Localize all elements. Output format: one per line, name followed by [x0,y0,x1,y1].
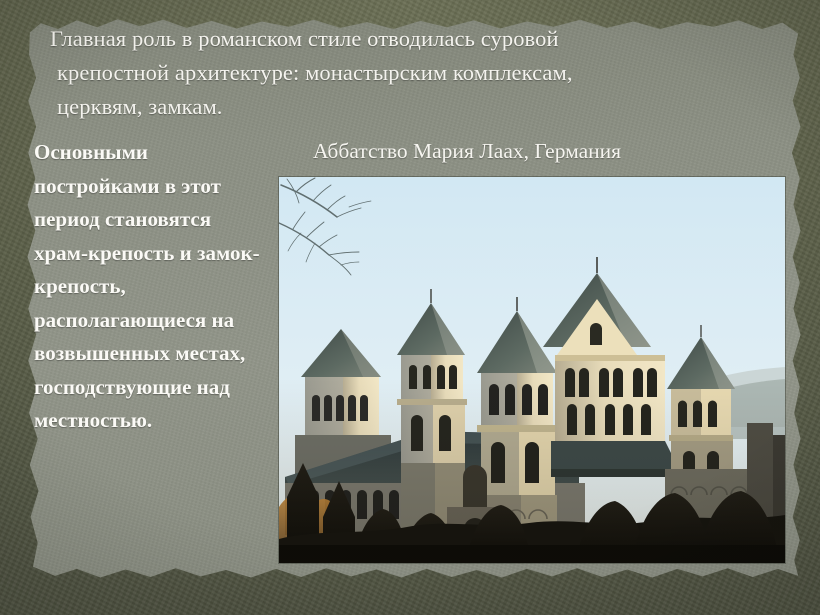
photo-caption: Аббатство Мария Лаах, Германия [313,136,753,166]
body-paragraph: Основными постройками в этот период стан… [34,136,262,438]
slide-title: Главная роль в романском стиле отводилас… [50,22,750,124]
title-line-3: церквям, замкам. [50,90,750,124]
abbey-photograph-image [279,177,785,563]
title-line-2: крепостной архитектуре: монастырским ком… [50,56,750,90]
title-line-1: Главная роль в романском стиле отводилас… [50,22,750,56]
presentation-slide: Главная роль в романском стиле отводилас… [0,0,820,615]
abbey-photograph [279,177,785,563]
